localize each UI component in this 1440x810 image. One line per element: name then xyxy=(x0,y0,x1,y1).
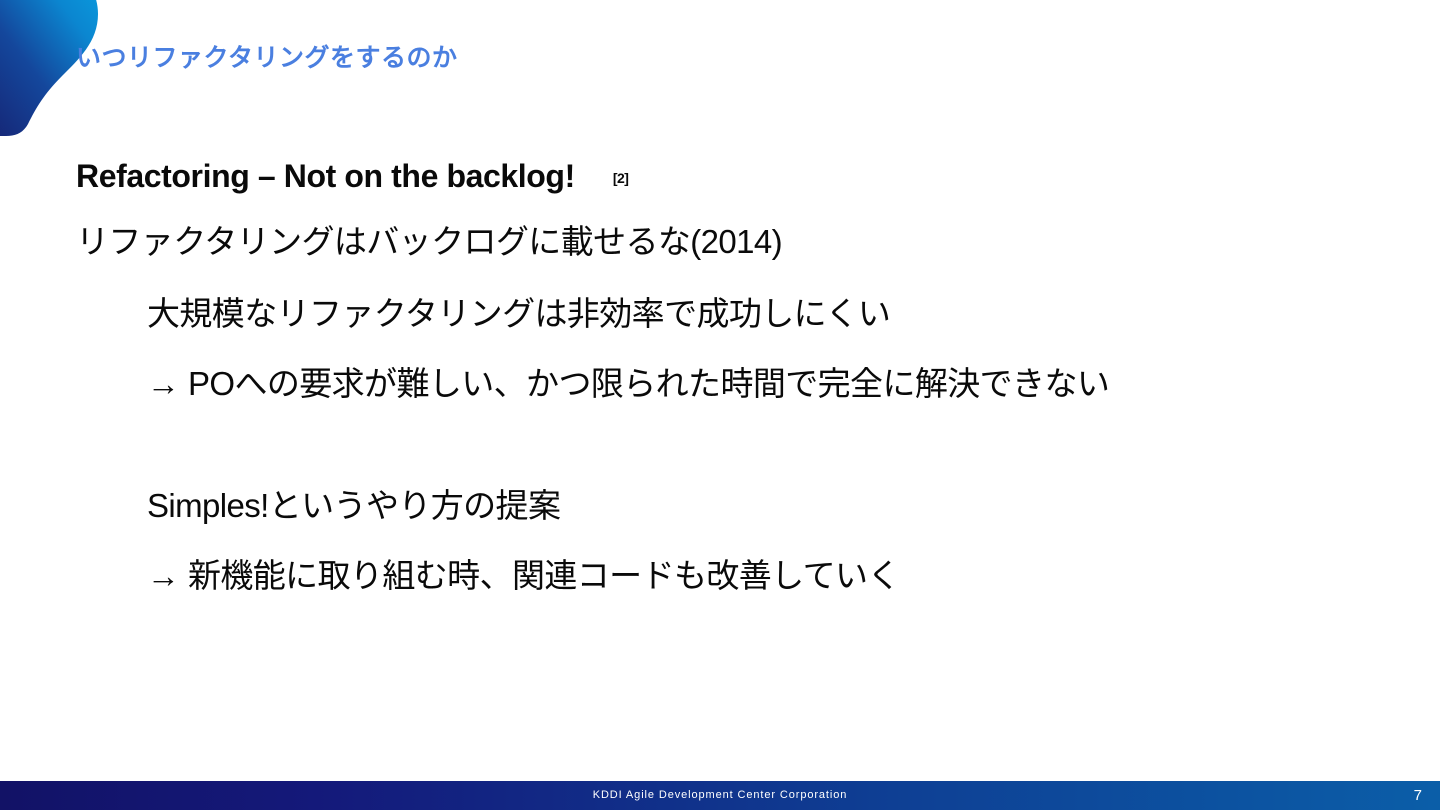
spacer xyxy=(76,264,1400,292)
footer-organization: KDDI Agile Development Center Corporatio… xyxy=(0,781,1440,810)
page-number: 7 xyxy=(1414,781,1422,810)
slide-body: Refactoring – Not on the backlog! [2] リフ… xyxy=(76,152,1400,598)
spacer xyxy=(76,528,1400,554)
body-heading: Refactoring – Not on the backlog! [2] xyxy=(76,152,1400,200)
body-heading-text: Refactoring – Not on the backlog! xyxy=(76,152,575,200)
spacer-blank-line xyxy=(76,406,1400,484)
citation-marker: [2] xyxy=(613,154,629,202)
body-line-3: → POへの要求が難しい、かつ限られた時間で完全に解決できない xyxy=(147,362,1400,406)
presentation-slide: いつリファクタリングをするのか Refactoring – Not on the… xyxy=(0,0,1440,810)
body-line-1: リファクタリングはバックログに載せるな(2014) xyxy=(76,220,1400,264)
body-line-2: 大規模なリファクタリングは非効率で成功しにくい xyxy=(147,292,1400,336)
body-line-5: → 新機能に取り組む時、関連コードも改善していく xyxy=(147,554,1400,598)
spacer xyxy=(76,200,1400,220)
page-title: いつリファクタリングをするのか xyxy=(76,38,458,74)
body-line-4: Simples!というやり方の提案 xyxy=(147,484,1400,528)
footer-band: KDDI Agile Development Center Corporatio… xyxy=(0,781,1440,810)
spacer xyxy=(76,336,1400,362)
